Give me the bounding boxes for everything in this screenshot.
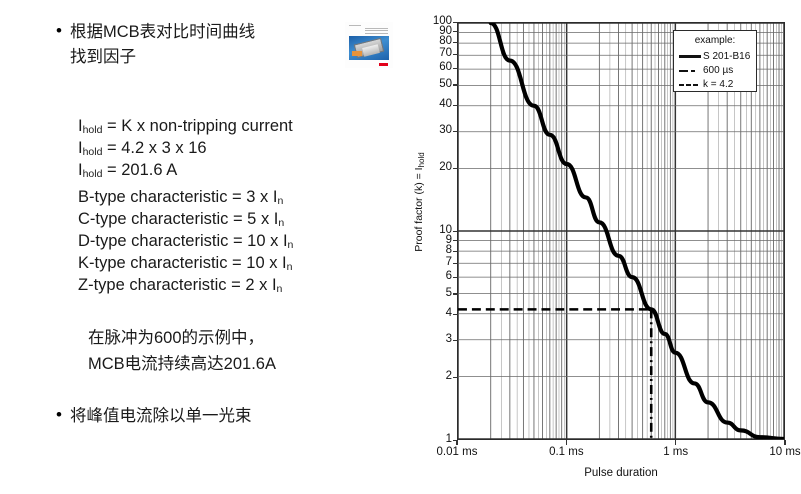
thumb-photo-image — [349, 36, 389, 60]
characteristic-line-k-label: K-type characteristic = 10 x I — [78, 254, 287, 272]
y-axis-title: Proof factor (k) = Ihold — [413, 117, 425, 287]
characteristic-subscript: n — [288, 239, 294, 251]
y-tick-mark — [453, 263, 458, 264]
proof-factor-chart: 100908070605040302010987654321 0.01 ms0.… — [396, 0, 801, 494]
thumb-text-lines — [349, 25, 389, 35]
y-tick-label: 60 — [404, 62, 452, 74]
x-tick-mark — [566, 440, 567, 445]
characteristic-line-d: D-type characteristic = 10 x In — [78, 230, 293, 252]
formula-subscript: hold — [83, 124, 103, 136]
y-tick-mark — [453, 340, 458, 341]
mcb-product-photo — [345, 22, 393, 68]
legend-entry-solid: S 201-B16 — [674, 49, 756, 63]
slide-text-panel: • 根据MCB表对比时间曲线 找到因子 Ihold = K x non-trip… — [0, 0, 400, 494]
x-tick-label: 10 ms — [769, 446, 800, 458]
characteristic-line-z-label: Z-type characteristic = 2 x I — [78, 276, 277, 294]
x-tick-label: 1 ms — [663, 446, 688, 458]
formula-line-2: Ihold = 4.2 x 3 x 16 — [78, 137, 293, 159]
y-tick-label: 6 — [404, 271, 452, 283]
y-tick-label: 40 — [404, 99, 452, 111]
y-tick-mark — [453, 68, 458, 69]
characteristic-line-b-label: B-type characteristic = 3 x I — [78, 188, 277, 206]
y-tick-mark — [453, 42, 458, 43]
characteristic-subscript: n — [287, 261, 293, 273]
y-tick-mark — [453, 54, 458, 55]
y-tick-mark — [453, 105, 458, 106]
formula-line-3-rest: = 201.6 A — [102, 161, 177, 179]
y-axis-title-subscript: hold — [417, 152, 426, 167]
y-tick-mark — [453, 84, 458, 85]
x-tick-label: 0.01 ms — [437, 446, 478, 458]
y-tick-label: 7 — [404, 257, 452, 269]
formula-subscript: hold — [83, 146, 103, 158]
characteristic-subscript: n — [278, 217, 284, 229]
y-tick-mark — [453, 293, 458, 294]
characteristic-line-z: Z-type characteristic = 2 x In — [78, 274, 293, 296]
bullet-item-2: • 将峰值电流除以单一光束 — [56, 404, 252, 429]
y-tick-mark — [453, 251, 458, 252]
bullet-item-1: • 根据MCB表对比时间曲线 找到因子 — [56, 20, 255, 70]
y-tick-label: 50 — [404, 79, 452, 91]
y-tick-mark — [453, 314, 458, 315]
x-tick-label: 0.1 ms — [549, 446, 584, 458]
y-tick-label: 30 — [404, 125, 452, 137]
characteristic-line-k: K-type characteristic = 10 x In — [78, 252, 293, 274]
legend-solid-line-icon — [679, 51, 703, 61]
y-tick-mark — [453, 22, 458, 23]
bullet-dot-icon: • — [56, 404, 70, 426]
characteristic-line-c-label: C-type characteristic = 5 x I — [78, 210, 278, 228]
characteristic-line-b: B-type characteristic = 3 x In — [78, 186, 293, 208]
x-tick-mark — [456, 440, 457, 445]
y-tick-label: 8 — [404, 245, 452, 257]
x-tick-mark — [675, 440, 676, 445]
y-tick-label: 1 — [404, 434, 452, 446]
y-tick-mark — [453, 277, 458, 278]
y-tick-label: 20 — [404, 162, 452, 174]
formula-subscript: hold — [83, 168, 103, 180]
y-tick-label: 70 — [404, 48, 452, 60]
characteristic-subscript: n — [277, 283, 283, 295]
formula-block: Ihold = K x non-tripping current Ihold =… — [78, 115, 293, 296]
legend-title: example: — [674, 35, 756, 47]
legend-entry-dashed: k = 4.2 — [674, 77, 756, 91]
y-tick-mark — [453, 240, 458, 241]
characteristic-line-d-label: D-type characteristic = 10 x I — [78, 232, 288, 250]
example-note: 在脉冲为600的示例中， MCB电流持续高达201.6A — [88, 325, 276, 377]
y-tick-mark — [453, 168, 458, 169]
chart-legend: example: S 201-B16 600 µs k = 4.2 — [673, 30, 757, 92]
y-axis-title-label: Proof factor (k) = I — [413, 167, 425, 251]
formula-line-2-rest: = 4.2 x 3 x 16 — [102, 139, 206, 157]
legend-entry-solid-label: S 201-B16 — [703, 51, 750, 62]
legend-dashdot-line-icon — [679, 65, 703, 75]
y-tick-mark — [453, 131, 458, 132]
legend-entry-dashdot-label: 600 µs — [703, 65, 733, 76]
bullet-dot-icon: • — [56, 20, 70, 42]
bullet-item-1-label: 根据MCB表对比时间曲线 找到因子 — [70, 20, 255, 70]
legend-entry-dashdot: 600 µs — [674, 63, 756, 77]
y-tick-mark — [453, 377, 458, 378]
y-tick-label: 3 — [404, 334, 452, 346]
y-tick-mark — [453, 231, 458, 232]
formula-line-1: Ihold = K x non-tripping current — [78, 115, 293, 137]
legend-entry-dashed-label: k = 4.2 — [703, 79, 733, 90]
formula-line-1-rest: = K x non-tripping current — [102, 117, 292, 135]
formula-line-3: Ihold = 201.6 A — [78, 159, 293, 181]
characteristic-line-c: C-type characteristic = 5 x In — [78, 208, 293, 230]
y-tick-mark — [453, 31, 458, 32]
x-tick-mark — [784, 440, 785, 445]
y-tick-label: 80 — [404, 36, 452, 48]
characteristic-subscript: n — [277, 195, 283, 207]
y-tick-label: 4 — [404, 308, 452, 320]
bullet-item-2-label: 将峰值电流除以单一光束 — [70, 404, 252, 429]
legend-dashed-line-icon — [679, 79, 703, 89]
x-axis-title: Pulse duration — [457, 467, 785, 479]
y-tick-label: 5 — [404, 288, 452, 300]
thumb-accent-bar — [379, 63, 388, 66]
y-tick-label: 2 — [404, 371, 452, 383]
